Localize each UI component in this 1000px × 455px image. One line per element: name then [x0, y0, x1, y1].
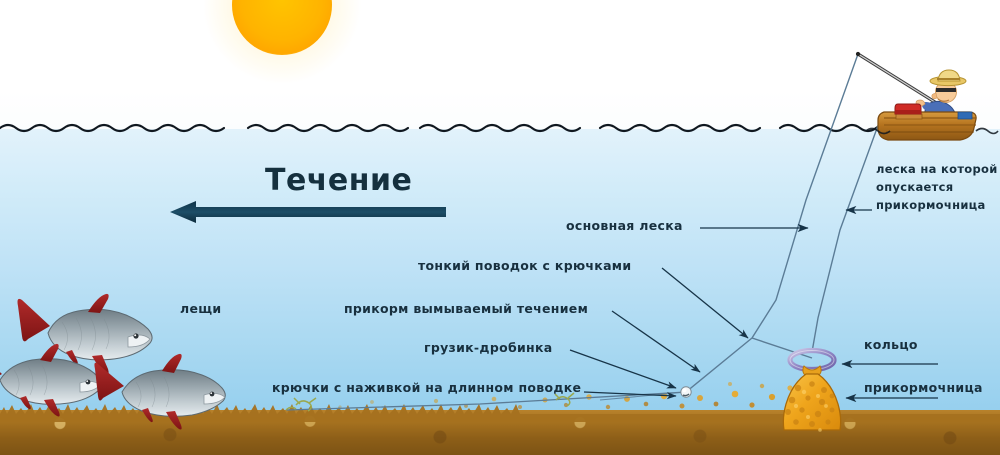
main-line-path [752, 54, 858, 338]
line-to-ring [752, 338, 812, 358]
fish-label: лещи [180, 302, 221, 317]
feeder-label: прикормочница [864, 381, 983, 396]
fishing-diagram: Течение лещи основная леска тонкий повод… [0, 0, 1000, 455]
baited-hooks-label: крючки с наживкой на длинном поводке [272, 381, 581, 396]
main-line-label: основная леска [566, 219, 683, 234]
feeder-line-label-3: прикормочница [876, 199, 986, 213]
thin-leader-label: тонкий поводок с крючками [418, 259, 631, 274]
leader-thin-leader [662, 268, 748, 338]
line-to-sinker [686, 338, 752, 392]
feeder-assembly [783, 351, 840, 432]
ring-label: кольцо [864, 338, 918, 353]
flow-arrow [170, 201, 446, 223]
groundbait-label: прикорм вымываемый течением [344, 302, 588, 317]
feeder-line-label-1: леска на которой [876, 163, 998, 177]
leader-sinker [570, 350, 676, 388]
flow-label: Течение [265, 163, 412, 198]
sinker-bead [681, 387, 691, 397]
leader-groundbait [612, 311, 700, 372]
label-leaders [570, 210, 938, 398]
fishing-rod [856, 52, 938, 104]
water-surface-line [0, 125, 892, 131]
sinker-label: грузик-дробинка [424, 341, 553, 356]
feeder-line-label-2: опускается [876, 181, 953, 195]
